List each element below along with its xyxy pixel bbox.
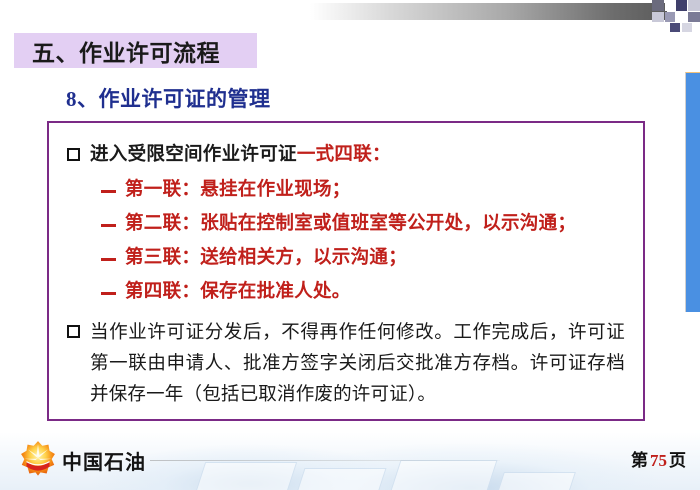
cnpc-sunburst-logo-icon [20,440,56,476]
mosaic-squares-decoration [652,0,700,32]
bullet-1-black-run: 进入受限空间作业许可证 [90,145,297,165]
page-prefix-label: 第 [631,451,648,470]
list-item: 第一联：悬挂在作业现场； [101,176,625,204]
dash-bullet-icon [101,292,116,295]
sub-item-4-text: 第四联：保存在批准人处。 [125,278,351,306]
list-item: 第三联：送给相关方，以示沟通； [101,244,625,272]
sub-item-2-text: 第二联：张贴在控制室或值班室等公开处，以示沟通； [125,210,576,238]
slide-canvas: 五、作业许可流程 8、作业许可证的管理 进入受限空间作业许可证一式四联： 第一联… [0,0,700,490]
list-item: 第二联：张贴在控制室或值班室等公开处，以示沟通； [101,210,625,238]
slide-subtitle: 8、作业许可证的管理 [66,83,271,113]
page-suffix-label: 页 [669,451,686,470]
footer-card-decoration [496,472,576,490]
bullet-item-1: 进入受限空间作业许可证一式四联： [67,141,625,170]
footer-card-decoration [389,460,497,490]
section-title-banner: 五、作业许可流程 [14,33,257,68]
bullet-item-2-text: 当作业许可证分发后，不得再作任何修改。工作完成后，许可证第一联由申请人、批准方签… [90,318,625,411]
company-name-label: 中国石油 [62,446,146,475]
right-blue-accent-bar [685,72,700,312]
square-bullet-icon [67,148,80,161]
dash-bullet-icon [101,224,116,227]
content-box: 进入受限空间作业许可证一式四联： 第一联：悬挂在作业现场； 第二联：张贴在控制室… [47,121,645,421]
dash-bullet-icon [101,258,116,261]
list-item: 第四联：保存在批准人处。 [101,278,625,306]
footer-card-decoration [295,468,386,490]
footer-card-decoration [195,462,297,490]
page-number-indicator: 第75页 [631,446,686,471]
bullet-item-1-text: 进入受限空间作业许可证一式四联： [90,141,391,170]
sub-item-1-text: 第一联：悬挂在作业现场； [125,176,351,204]
bullet-item-2: 当作业许可证分发后，不得再作任何修改。工作完成后，许可证第一联由申请人、批准方签… [67,318,625,411]
bullet-1-red-run: 一式四联： [297,145,391,165]
sub-item-list: 第一联：悬挂在作业现场； 第二联：张贴在控制室或值班室等公开处，以示沟通； 第三… [101,176,625,306]
square-bullet-icon [67,325,80,338]
sub-item-3-text: 第三联：送给相关方，以示沟通； [125,244,407,272]
dash-bullet-icon [101,190,116,193]
top-gradient-bar-decoration [310,3,667,20]
page-number-value: 75 [648,451,669,470]
footer-divider-rule [150,460,500,461]
section-title-text: 五、作业许可流程 [32,34,220,68]
